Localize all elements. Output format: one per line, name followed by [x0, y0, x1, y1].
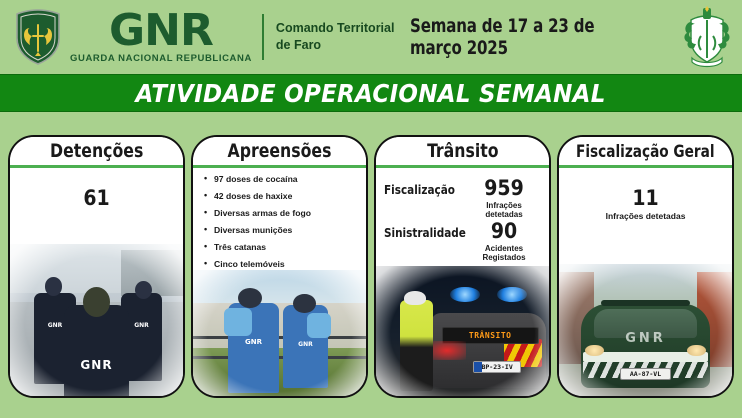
row-value: 90	[467, 221, 541, 242]
photo-fiscalizacao-scene: GNR AA-87-VL	[559, 264, 732, 396]
row-caption: Acidentes Registados	[467, 244, 541, 262]
gnr-crest-icon	[12, 8, 64, 66]
card-title-zone: Detenções	[10, 137, 183, 168]
card-fiscalizacao-geral[interactable]: Fiscalização Geral 11 Infrações detetada…	[557, 135, 734, 398]
photo-apreensoes: GNR GNR	[193, 270, 366, 396]
card-title-zone: Trânsito	[376, 137, 549, 168]
week-range-container: Semana de 17 a 23 de março 2025	[394, 15, 682, 59]
photo-detencoes-scene: GNR GNR GNR	[10, 244, 183, 396]
card-title-zone: Fiscalização Geral	[559, 137, 732, 168]
photo-apreensoes-scene: GNR GNR	[193, 270, 366, 396]
faro-coat-of-arms-icon	[682, 6, 732, 68]
card-title-transito: Trânsito	[427, 140, 498, 162]
gnr-brand: GNR GUARDA NACIONAL REPUBLICANA Comando …	[12, 8, 394, 66]
banner-title: ATIVIDADE OPERACIONAL SEMANAL	[136, 79, 606, 108]
row-value-box: 959 Infrações detetadas	[467, 178, 541, 219]
led-sign-text: TRÂNSITO	[469, 331, 512, 340]
card-title-fiscalizacao-geral: Fiscalização Geral	[576, 142, 715, 161]
photo-transito-scene: TRÂNSITO BP-23-IV	[376, 266, 549, 396]
list-item: Diversas armas de fogo	[203, 209, 360, 218]
list-item: 97 doses de cocaína	[203, 175, 360, 184]
card-title-zone: Apreensões	[193, 137, 366, 168]
brand-divider	[262, 14, 264, 60]
row-caption: Infrações detetadas	[467, 201, 541, 219]
fiscalizacao-value: 11	[559, 186, 732, 210]
license-plate-text: BP-23-IV	[481, 363, 512, 371]
row-value-box: 90 Acidentes Registados	[467, 221, 541, 262]
list-item: Diversas munições	[203, 226, 360, 235]
row-value: 959	[467, 178, 541, 199]
card-detencoes[interactable]: Detenções 61 GNR GNR	[8, 135, 185, 398]
apreensoes-list: 97 doses de cocaína 42 doses de haxixe D…	[193, 175, 366, 277]
page-header: GNR GUARDA NACIONAL REPUBLICANA Comando …	[0, 0, 742, 74]
license-plate-text: AA-87-VL	[630, 370, 661, 378]
photo-transito: TRÂNSITO BP-23-IV	[376, 266, 549, 396]
gnr-wordmark: GNR GUARDA NACIONAL REPUBLICANA	[70, 10, 252, 64]
card-apreensoes[interactable]: Apreensões 97 doses de cocaína 42 doses …	[191, 135, 368, 398]
list-item: Cinco telemóveis	[203, 260, 360, 269]
gnr-subtitle: GUARDA NACIONAL REPUBLICANA	[70, 53, 252, 64]
card-body-apreensoes: 97 doses de cocaína 42 doses de haxixe D…	[193, 168, 366, 396]
list-item: 42 doses de haxixe	[203, 192, 360, 201]
section-banner: ATIVIDADE OPERACIONAL SEMANAL	[0, 74, 742, 112]
license-plate: BP-23-IV	[473, 361, 521, 373]
card-title-detencoes: Detenções	[50, 140, 143, 162]
card-title-apreensoes: Apreensões	[228, 140, 332, 162]
list-item: Três catanas	[203, 243, 360, 252]
transito-row-fiscalizacao: Fiscalização 959 Infrações detetadas	[384, 178, 541, 219]
command-line-2: de Faro	[276, 37, 395, 54]
card-body-detencoes: 61 GNR GNR	[10, 168, 183, 396]
license-plate: AA-87-VL	[620, 368, 672, 380]
stats-card-row: Detenções 61 GNR GNR	[0, 135, 742, 400]
command-territorial-label: Comando Territorial de Faro	[276, 20, 395, 54]
row-label: Fiscalização	[384, 178, 461, 197]
gnr-title: GNR	[109, 10, 213, 52]
card-transito[interactable]: Trânsito Fiscalização 959 Infrações dete…	[374, 135, 551, 398]
command-line-1: Comando Territorial	[276, 20, 395, 37]
detencoes-value: 61	[10, 186, 183, 210]
transito-stat-rows: Fiscalização 959 Infrações detetadas Sin…	[376, 168, 549, 264]
card-body-transito: Fiscalização 959 Infrações detetadas Sin…	[376, 168, 549, 396]
row-label: Sinistralidade	[384, 221, 461, 240]
photo-fiscalizacao-geral: GNR AA-87-VL	[559, 264, 732, 396]
photo-detencoes: GNR GNR GNR	[10, 244, 183, 396]
week-range-label: Semana de 17 a 23 de março 2025	[411, 15, 646, 59]
fiscalizacao-caption: Infrações detetadas	[559, 211, 732, 221]
card-body-fiscalizacao-geral: 11 Infrações detetadas GNR	[559, 168, 732, 396]
car-gnr-marking: GNR	[559, 331, 732, 346]
transito-row-sinistralidade: Sinistralidade 90 Acidentes Registados	[384, 221, 541, 262]
